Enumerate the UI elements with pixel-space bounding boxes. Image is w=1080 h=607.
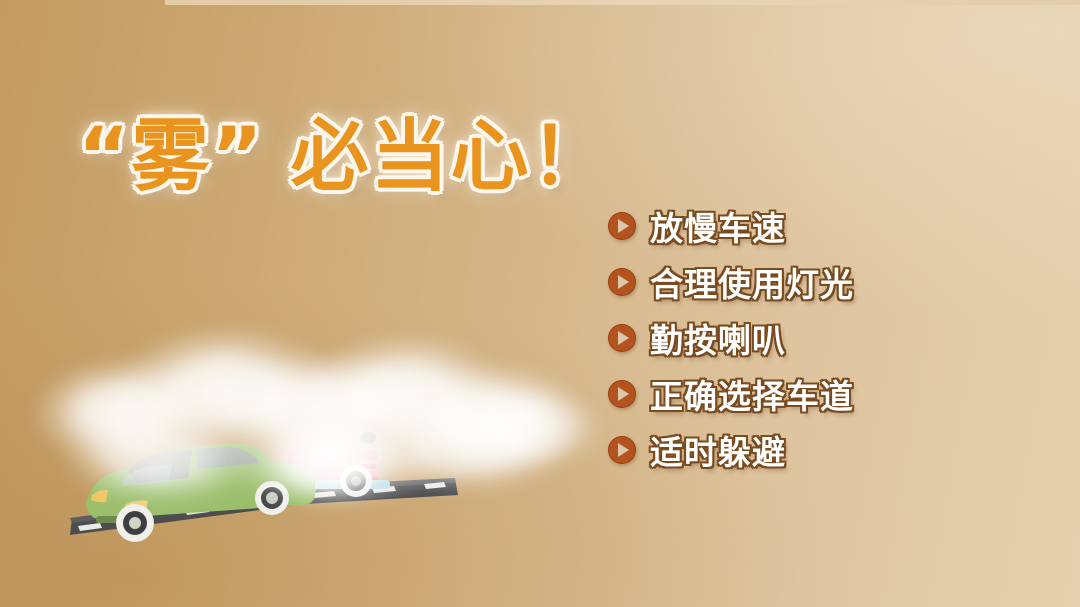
list-item[interactable]: 适时躲避: [608, 422, 854, 478]
safety-tips-list: 放慢车速 合理使用灯光 勤按喇叭 正确选择车道 适时躲避: [608, 198, 854, 478]
slide-title: “雾”必当心！: [78, 114, 611, 201]
play-triangle-icon: [608, 212, 636, 240]
play-triangle-icon: [608, 436, 636, 464]
slide-canvas: “雾”必当心！ 放慢车速 合理使用灯光 勤按喇叭 正确选择车道 适时躲避: [0, 0, 1080, 607]
play-triangle-icon: [608, 268, 636, 296]
list-item-label: 勤按喇叭: [650, 314, 786, 362]
top-edge-strip: [165, 0, 1080, 5]
green-car: [86, 443, 316, 542]
title-rest: 必当心！: [291, 112, 611, 202]
list-item[interactable]: 正确选择车道: [608, 366, 854, 422]
list-item-label: 放慢车速: [650, 202, 786, 250]
title-quoted-word: “雾”: [78, 112, 265, 202]
road-and-vehicles-svg: [0, 290, 560, 580]
list-item-label: 正确选择车道: [650, 370, 854, 418]
list-item[interactable]: 合理使用灯光: [608, 254, 854, 310]
fog-driving-illustration: [0, 290, 560, 580]
list-item[interactable]: 放慢车速: [608, 198, 854, 254]
list-item-label: 适时躲避: [650, 426, 786, 474]
list-item-label: 合理使用灯光: [650, 258, 854, 306]
play-triangle-icon: [608, 380, 636, 408]
play-triangle-icon: [608, 324, 636, 352]
list-item[interactable]: 勤按喇叭: [608, 310, 854, 366]
